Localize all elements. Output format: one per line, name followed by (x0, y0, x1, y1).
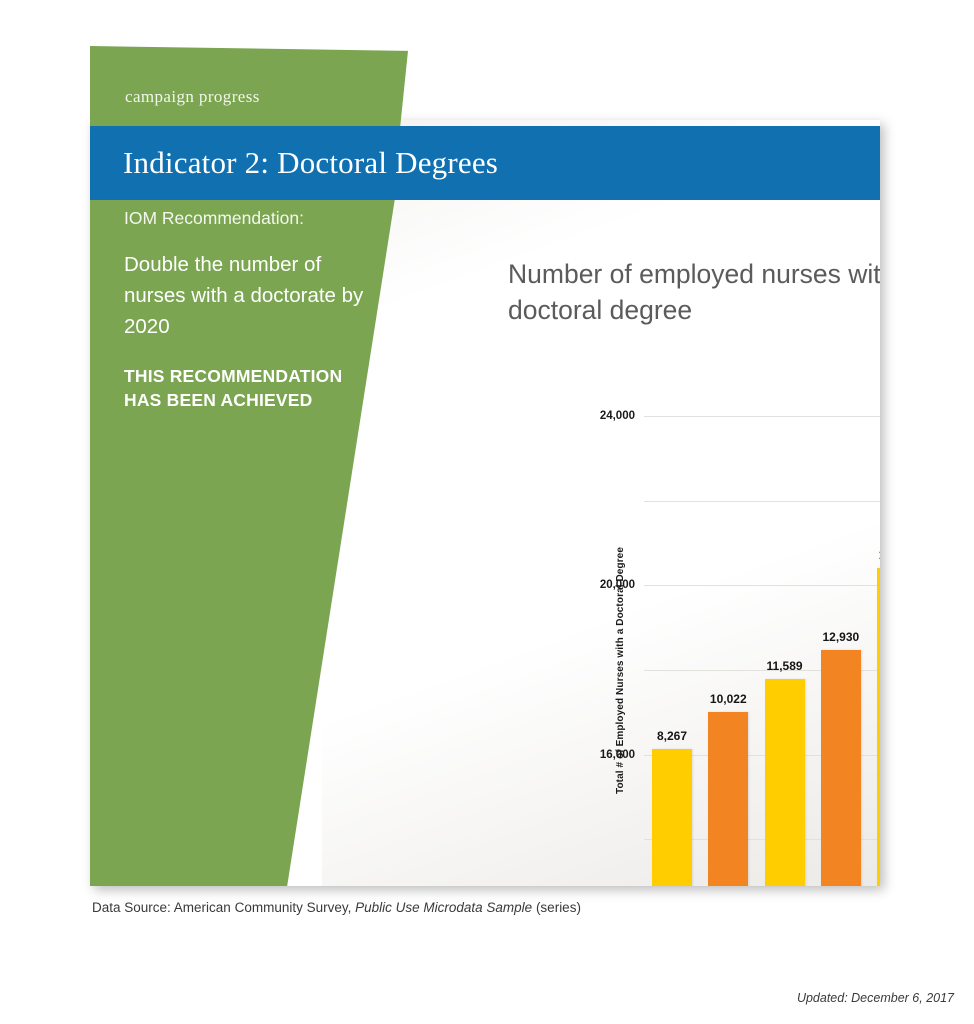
bar-value-label: 11,589 (767, 659, 803, 673)
source-prefix: Data Source: American Community Survey, (92, 900, 355, 915)
achieved-line-1: THIS RECOMMENDATION (124, 364, 376, 388)
bar-2013[interactable] (877, 568, 880, 886)
title-bar: Indicator 2: Doctoral Degrees (90, 126, 880, 200)
kicker-label: campaign progress (125, 87, 260, 107)
bar-value-label: 16,802 (879, 548, 880, 562)
bar-value-label: 8,267 (657, 729, 687, 743)
chart-title: Number of employed nurses with a doctora… (508, 256, 880, 328)
achieved-badge: THIS RECOMMENDATION HAS BEEN ACHIEVED (124, 364, 376, 412)
source-suffix: (series) (532, 900, 581, 915)
bar-value-label: 12,930 (822, 630, 859, 644)
updated-timestamp: Updated: December 6, 2017 (797, 991, 954, 1005)
bar-column[interactable]: 11,589 (765, 416, 805, 886)
recommendation-label: IOM Recommendation: (124, 206, 376, 230)
bar-value-label: 10,022 (710, 692, 747, 706)
bar-2012[interactable] (821, 650, 861, 886)
y-axis-tick-label: 16,000 (600, 749, 635, 761)
bar-column[interactable]: 8,267 (652, 416, 692, 886)
achieved-line-2: HAS BEEN ACHIEVED (124, 388, 376, 412)
bar-2009[interactable] (652, 749, 692, 886)
bar-2010[interactable] (708, 712, 748, 886)
source-italic: Public Use Microdata Sample (355, 900, 532, 915)
bar-2011[interactable] (765, 679, 805, 886)
y-axis-title: Total # of Employed Nurses with a Doctor… (612, 416, 628, 886)
recommendation-block: IOM Recommendation: Double the number of… (124, 206, 376, 412)
indicator-card: Number of employed nurses with a doctora… (90, 46, 880, 886)
bar-column[interactable]: 16,802 (877, 416, 880, 886)
y-axis-tick-label: 24,000 (600, 410, 635, 422)
bar-series: 8,26710,02211,58912,93016,80221,28021,12… (644, 416, 880, 886)
plot-area: 4,0008,00012,00016,00020,00024,000 8,267… (644, 416, 880, 886)
bar-column[interactable]: 12,930 (821, 416, 861, 886)
y-axis-tick-label: 20,000 (600, 579, 635, 591)
data-source-note: Data Source: American Community Survey, … (92, 900, 581, 915)
chart-panel: Number of employed nurses with a doctora… (322, 120, 880, 886)
recommendation-text: Double the number of nurses with a docto… (124, 249, 376, 342)
bar-column[interactable]: 10,022 (708, 416, 748, 886)
page-title: Indicator 2: Doctoral Degrees (90, 145, 498, 181)
